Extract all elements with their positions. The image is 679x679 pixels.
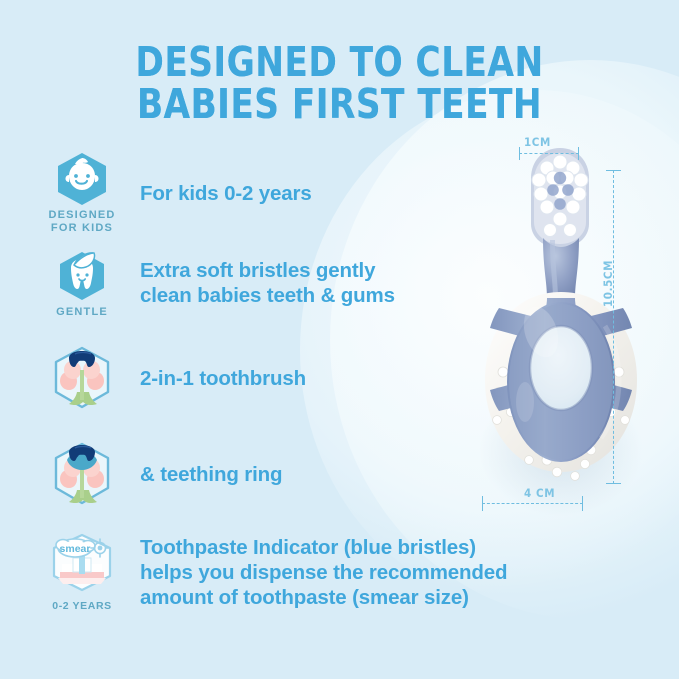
feature-row-2in1-toothbrush: 2-in-1 toothbrush — [34, 330, 454, 426]
feature-text-2-line1: Extra soft bristles gently — [140, 258, 395, 283]
feature-icon-wrap-4 — [34, 440, 130, 508]
feature-row-toothpaste-indicator: smear 0-2 YEARS Toothpaste Indicator (bl… — [34, 522, 454, 622]
dimension-cap-top-right — [578, 147, 579, 160]
icon-caption-5: 0-2 YEARS — [52, 600, 111, 613]
icon-caption-1: DESIGNED FOR KIDS — [48, 209, 115, 236]
feature-icon-wrap-5: smear 0-2 YEARS — [34, 532, 130, 613]
icon-caption-2-line1: GENTLE — [56, 306, 108, 319]
dimension-label-ring-width: 4 CM — [524, 486, 555, 500]
feature-text-4: & teething ring — [130, 462, 282, 487]
smear-badge-text: smear — [60, 543, 91, 555]
dimension-label-head-width: 1CM — [524, 135, 551, 149]
teething-ring-on-gums-icon — [46, 440, 118, 508]
product-image — [455, 120, 665, 520]
dimension-line-bottom — [482, 503, 583, 504]
feature-text-1-line1: For kids 0-2 years — [140, 181, 312, 206]
feature-text-2-line2: clean babies teeth & gums — [140, 283, 395, 308]
feature-text-1: For kids 0-2 years — [130, 181, 312, 206]
dimension-line-right — [613, 170, 614, 484]
baby-face-icon — [51, 151, 113, 207]
feature-text-5: Toothpaste Indicator (blue bristles) hel… — [130, 535, 507, 610]
icon-caption-1-line1: DESIGNED — [48, 209, 115, 222]
dimension-cap-bottom-right — [582, 496, 583, 511]
icon-caption-2: GENTLE — [56, 306, 108, 319]
smear-toothpaste-icon: smear — [40, 532, 124, 598]
feature-text-2: Extra soft bristles gently clean babies … — [130, 258, 395, 308]
feature-text-3-line1: 2-in-1 toothbrush — [140, 366, 306, 391]
feature-icon-wrap-2: GENTLE — [34, 246, 130, 319]
feature-row-teething-ring: & teething ring — [34, 426, 454, 522]
toothbrush-on-gums-icon — [46, 344, 118, 412]
feature-text-5-line1: Toothpaste Indicator (blue bristles) — [140, 535, 507, 560]
feature-icon-wrap-1: DESIGNED FOR KIDS — [34, 151, 130, 236]
toothbrush-teether-illustration — [455, 120, 665, 520]
page-title: DESIGNED TO CLEAN BABIES FIRST TEETH — [24, 42, 655, 126]
feature-list: DESIGNED FOR KIDS For kids 0-2 years GEN… — [34, 150, 454, 622]
feature-text-4-line1: & teething ring — [140, 462, 282, 487]
icon-caption-5-line1: 0-2 YEARS — [52, 600, 111, 613]
dimension-cap-top-left — [519, 147, 520, 160]
dimension-cap-right-top — [606, 170, 621, 171]
gentle-tooth-feather-icon — [51, 246, 113, 304]
feature-icon-wrap-3 — [34, 344, 130, 412]
feature-row-designed-for-kids: DESIGNED FOR KIDS For kids 0-2 years — [34, 150, 454, 236]
feature-text-5-line2: helps you dispense the recommended — [140, 560, 507, 585]
dimension-cap-bottom-left — [482, 496, 483, 511]
feature-text-3: 2-in-1 toothbrush — [130, 366, 306, 391]
dimension-cap-right-bottom — [606, 483, 621, 484]
dimension-line-top — [519, 153, 579, 154]
title-line-1: DESIGNED TO CLEAN — [24, 42, 655, 84]
feature-row-gentle: GENTLE Extra soft bristles gently clean … — [34, 236, 454, 330]
feature-text-5-line3: amount of toothpaste (smear size) — [140, 585, 507, 610]
icon-caption-1-line2: FOR KIDS — [48, 222, 115, 235]
